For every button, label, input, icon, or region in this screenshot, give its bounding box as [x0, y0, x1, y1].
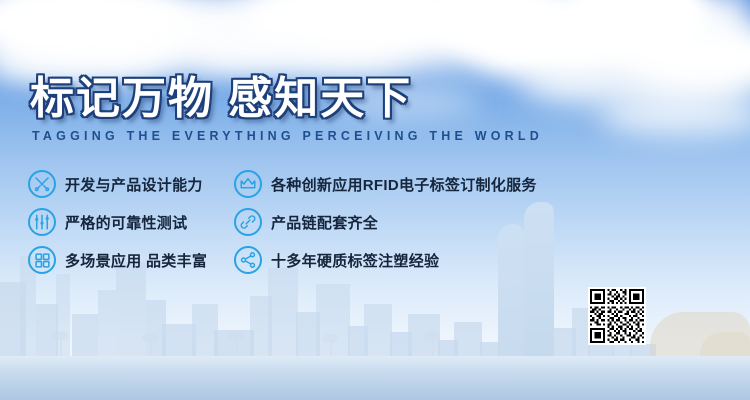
- feature-item-scenarios: 多场景应用 品类丰富: [28, 244, 207, 276]
- feature-item-supply-chain: 产品链配套齐全: [234, 206, 378, 238]
- feature-item-development: 开发与产品设计能力: [28, 168, 203, 200]
- feature-label: 严格的可靠性测试: [65, 212, 187, 233]
- feature-item-reliability: 严格的可靠性测试: [28, 206, 187, 238]
- feature-label: 多场景应用 品类丰富: [65, 250, 207, 271]
- crown-icon: [234, 170, 262, 198]
- waterfront: [0, 366, 750, 400]
- qr-code-image: [590, 289, 644, 343]
- feature-item-rfid-service: 各种创新应用RFID电子标签订制化服务: [234, 168, 537, 200]
- grid-icon: [28, 246, 56, 274]
- link-icon: [234, 208, 262, 236]
- page-subtitle: TAGGING THE EVERYTHING PERCEIVING THE WO…: [32, 128, 543, 143]
- feature-label: 十多年硬质标签注塑经验: [271, 250, 439, 271]
- page-title: 标记万物 感知天下: [30, 74, 412, 124]
- share-icon: [234, 246, 262, 274]
- feature-label: 各种创新应用RFID电子标签订制化服务: [271, 174, 537, 195]
- feature-label: 开发与产品设计能力: [65, 174, 203, 195]
- sliders-icon: [28, 208, 56, 236]
- promo-banner: 标记万物 感知天下 TAGGING THE EVERYTHING PERCEIV…: [0, 0, 750, 400]
- qr-code[interactable]: [588, 287, 646, 345]
- tools-icon: [28, 170, 56, 198]
- feature-label: 产品链配套齐全: [271, 212, 378, 233]
- feature-item-experience: 十多年硬质标签注塑经验: [234, 244, 439, 276]
